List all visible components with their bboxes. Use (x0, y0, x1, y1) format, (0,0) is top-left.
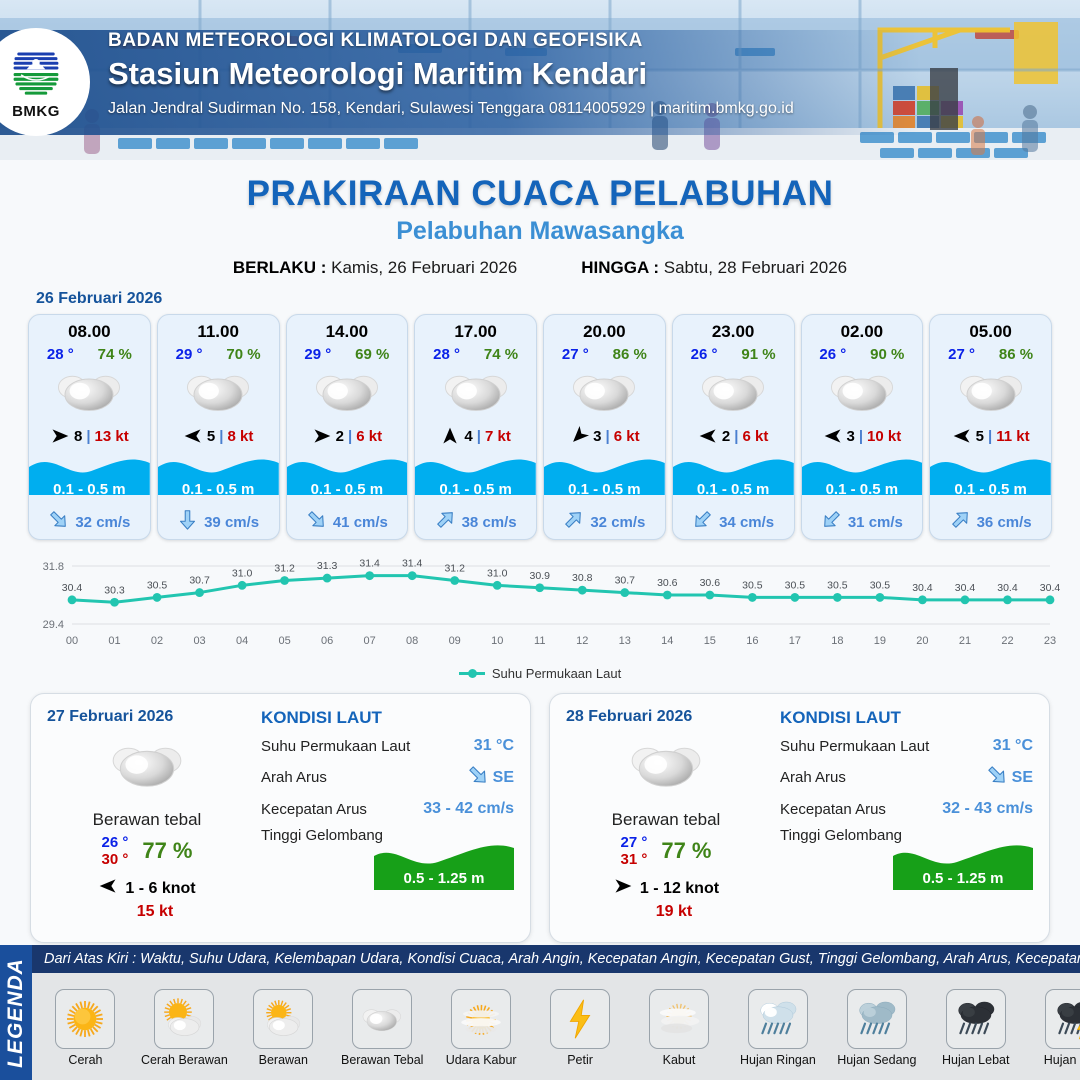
card-wave: 0.1 - 0.5 m (930, 453, 1051, 505)
daily-temp-max: 31 ° (620, 851, 647, 868)
svg-text:31.8: 31.8 (43, 561, 64, 573)
page-header: BMKG BADAN METEOROLOGI KLIMATOLOGI DAN G… (0, 0, 1080, 160)
sea-condition-value: SE (493, 769, 514, 787)
arrow-ne-current-icon (435, 509, 456, 535)
legenda-item-label: Udara Kabur (446, 1053, 517, 1067)
daily-wind-gust: 15 kt (63, 903, 247, 921)
sea-condition-value: 31 °C (474, 737, 514, 755)
svg-text:00: 00 (66, 635, 78, 647)
fog-icon (649, 989, 709, 1049)
sea-condition-value: 31 °C (993, 737, 1033, 755)
svg-text:21: 21 (959, 635, 971, 647)
berawan-tebal-icon (802, 363, 923, 419)
legenda-item: Berawan (237, 989, 329, 1067)
arrow-n-wind-icon (440, 426, 460, 446)
card-humidity: 74 % (98, 346, 132, 363)
legenda-item: Hujan Ringan (732, 989, 824, 1067)
daily-wave-badge: 0.5 - 1.25 m (374, 840, 514, 894)
chart-legend-marker (459, 672, 485, 675)
card-wave-height: 0.1 - 0.5 m (802, 481, 923, 498)
card-wind: 2 | 6 kt (673, 419, 794, 453)
arrow-se-current-icon (48, 509, 69, 535)
svg-text:31.2: 31.2 (444, 563, 465, 575)
sea-condition-label: Arah Arus (780, 769, 846, 786)
station-name: Stasiun Meteorologi Maritim Kendari (108, 56, 794, 92)
card-time: 14.00 (287, 315, 408, 342)
hourly-date-label: 26 Februari 2026 (36, 290, 1080, 308)
card-wave-height: 0.1 - 0.5 m (287, 481, 408, 498)
svg-text:30.6: 30.6 (700, 577, 721, 589)
legenda-side-text: LEGENDA (4, 958, 28, 1068)
card-humidity: 70 % (226, 346, 260, 363)
card-wind-gust: 10 kt (867, 428, 901, 445)
card-wind-separator: | (219, 428, 223, 445)
arrow-se-current-icon (306, 509, 327, 535)
hourly-card: 20.00 27 ° 86 % 3 | 6 kt 0.1 - 0.5 m (543, 314, 666, 540)
arrow-w-wind-icon (952, 426, 972, 446)
svg-text:30.4: 30.4 (955, 582, 976, 594)
svg-text:31.3: 31.3 (317, 560, 338, 572)
card-temperature: 28 ° (433, 346, 460, 363)
arrow-w-wind-icon (183, 426, 203, 446)
card-wave: 0.1 - 0.5 m (29, 453, 150, 505)
sun-icon (55, 989, 115, 1049)
card-wind-direction: 2 (722, 428, 730, 445)
card-wave-height: 0.1 - 0.5 m (930, 481, 1051, 498)
card-current: 39 cm/s (158, 505, 279, 539)
svg-text:31.0: 31.0 (232, 567, 253, 579)
card-current-speed: 34 cm/s (719, 514, 774, 531)
legenda-item: Cerah (39, 989, 131, 1067)
card-wave: 0.1 - 0.5 m (287, 453, 408, 505)
berawan-tebal-icon (673, 363, 794, 419)
svg-text:30.8: 30.8 (572, 572, 593, 584)
svg-text:30.6: 30.6 (657, 577, 678, 589)
sea-condition-row: Kecepatan Arus 32 - 43 cm/s (780, 800, 1033, 818)
arrow-ne-current-icon (563, 509, 584, 535)
sea-condition-value: 33 - 42 cm/s (423, 800, 514, 818)
svg-text:09: 09 (449, 635, 461, 647)
svg-text:18: 18 (831, 635, 843, 647)
svg-text:16: 16 (746, 635, 758, 647)
arrow-se-current-icon (467, 764, 489, 791)
daily-date: 27 Februari 2026 (47, 708, 247, 726)
card-current-speed: 32 cm/s (590, 514, 645, 531)
moderate-rain-icon (847, 989, 907, 1049)
sea-condition-label: Tinggi Gelombang (780, 827, 902, 844)
card-wave-height: 0.1 - 0.5 m (29, 481, 150, 498)
svg-text:22: 22 (1001, 635, 1013, 647)
legenda-side-label: LEGENDA (0, 945, 32, 1080)
page-title: PRAKIRAAN CUACA PELABUHAN (0, 174, 1080, 214)
svg-text:30.4: 30.4 (1040, 582, 1060, 594)
card-wind-gust: 6 kt (742, 428, 768, 445)
daily-forecast-panels: 27 Februari 2026 Berawan tebal 26 ° 30 °… (0, 681, 1080, 943)
berawan-tebal-icon (415, 363, 536, 419)
svg-text:01: 01 (108, 635, 120, 647)
card-wind: 5 | 8 kt (158, 419, 279, 453)
hourly-card: 05.00 27 ° 86 % 5 | 11 kt 0.1 - 0.5 m (929, 314, 1052, 540)
legenda-caption: Dari Atas Kiri : Waktu, Suhu Udara, Kele… (32, 945, 1080, 973)
card-wind-separator: | (348, 428, 352, 445)
card-wave: 0.1 - 0.5 m (673, 453, 794, 505)
sea-condition-title: KONDISI LAUT (261, 708, 514, 728)
legenda-item-label: Hujan Lebat (942, 1053, 1009, 1067)
heavy-rain-icon (946, 989, 1006, 1049)
valid-to-value: Sabtu, 28 Februari 2026 (664, 258, 847, 277)
svg-text:14: 14 (661, 635, 673, 647)
card-humidity: 91 % (741, 346, 775, 363)
svg-text:31.0: 31.0 (487, 567, 508, 579)
berawan-tebal-icon (47, 732, 247, 798)
legenda-item: Berawan Tebal (336, 989, 428, 1067)
sun-cloud-icon (154, 989, 214, 1049)
chart-legend-label: Suhu Permukaan Laut (492, 666, 621, 681)
svg-text:19: 19 (874, 635, 886, 647)
svg-text:23: 23 (1044, 635, 1056, 647)
card-time: 20.00 (544, 315, 665, 342)
card-wind-separator: | (988, 428, 992, 445)
svg-text:04: 04 (236, 635, 248, 647)
light-rain-icon (748, 989, 808, 1049)
sea-condition-label: Kecepatan Arus (780, 801, 886, 818)
card-humidity: 74 % (484, 346, 518, 363)
svg-text:31.4: 31.4 (402, 558, 423, 570)
card-temperature: 29 ° (176, 346, 203, 363)
lightning-icon (550, 989, 610, 1049)
legenda-item-label: Petir (567, 1053, 593, 1067)
sea-condition-row: Suhu Permukaan Laut 31 °C (780, 737, 1033, 755)
legenda-item: Kabut (633, 989, 725, 1067)
card-current-speed: 41 cm/s (333, 514, 388, 531)
svg-text:15: 15 (704, 635, 716, 647)
svg-text:30.4: 30.4 (912, 582, 933, 594)
card-wind-gust: 6 kt (614, 428, 640, 445)
card-wind: 8 | 13 kt (29, 419, 150, 453)
svg-text:12: 12 (576, 635, 588, 647)
card-wind-direction: 2 (336, 428, 344, 445)
svg-text:30.7: 30.7 (189, 575, 210, 587)
legenda-item: Hujan Petir (1029, 989, 1080, 1067)
svg-text:06: 06 (321, 635, 333, 647)
card-humidity: 86 % (613, 346, 647, 363)
card-humidity: 90 % (870, 346, 904, 363)
berawan-tebal-icon (930, 363, 1051, 419)
legenda-item-label: Hujan Ringan (740, 1053, 816, 1067)
valid-from-value: Kamis, 26 Februari 2026 (331, 258, 517, 277)
card-wave: 0.1 - 0.5 m (415, 453, 536, 505)
card-current: 36 cm/s (930, 505, 1051, 539)
svg-text:31.2: 31.2 (274, 563, 295, 575)
card-wind: 2 | 6 kt (287, 419, 408, 453)
card-wind-gust: 6 kt (356, 428, 382, 445)
card-time: 11.00 (158, 315, 279, 342)
svg-text:05: 05 (278, 635, 290, 647)
daily-wind-range: 1 - 6 knot (125, 880, 195, 898)
card-wind-separator: | (86, 428, 90, 445)
sea-condition-row: Suhu Permukaan Laut 31 °C (261, 737, 514, 755)
daily-wave-height: 0.5 - 1.25 m (893, 870, 1033, 887)
legenda-item: Petir (534, 989, 626, 1067)
heavy-cloud-icon (352, 989, 412, 1049)
validity-row: BERLAKU : Kamis, 26 Februari 2026 HINGGA… (0, 258, 1080, 278)
legenda-item: Udara Kabur (435, 989, 527, 1067)
svg-text:30.9: 30.9 (530, 570, 551, 582)
card-wind-direction: 5 (207, 428, 215, 445)
agency-name: BADAN METEOROLOGI KLIMATOLOGI DAN GEOFIS… (108, 30, 794, 52)
card-time: 17.00 (415, 315, 536, 342)
svg-text:08: 08 (406, 635, 418, 647)
arrow-w-wind-icon (823, 426, 843, 446)
legenda-items: Cerah Cerah Berawan Berawan Berawan Teba… (32, 973, 1080, 1080)
arrow-sw-wind-icon (569, 426, 589, 446)
daily-wind: 1 - 12 knot (566, 876, 766, 901)
card-temperature: 27 ° (562, 346, 589, 363)
card-wind-gust: 7 kt (485, 428, 511, 445)
arrow-w-wind-icon (98, 876, 118, 901)
valid-from: BERLAKU : Kamis, 26 Februari 2026 (233, 258, 517, 278)
daily-wave-height: 0.5 - 1.25 m (374, 870, 514, 887)
card-current: 32 cm/s (544, 505, 665, 539)
svg-text:30.7: 30.7 (615, 575, 636, 587)
daily-temp-min: 27 ° (620, 834, 647, 851)
legenda-item-label: Hujan Sedang (837, 1053, 916, 1067)
card-current: 34 cm/s (673, 505, 794, 539)
card-wind-direction: 4 (464, 428, 472, 445)
legenda-item-label: Hujan Petir (1044, 1053, 1080, 1067)
card-current-speed: 39 cm/s (204, 514, 259, 531)
card-wave: 0.1 - 0.5 m (802, 453, 923, 505)
svg-text:02: 02 (151, 635, 163, 647)
card-wind-direction: 5 (976, 428, 984, 445)
hourly-card: 02.00 26 ° 90 % 3 | 10 kt 0.1 - 0.5 m (801, 314, 924, 540)
valid-to-label: HINGGA : (581, 258, 659, 277)
card-time: 05.00 (930, 315, 1051, 342)
legenda-item: Hujan Sedang (831, 989, 923, 1067)
card-current-speed: 36 cm/s (977, 514, 1032, 531)
legenda-item-label: Kabut (663, 1053, 696, 1067)
title-block: PRAKIRAAN CUACA PELABUHAN Pelabuhan Mawa… (0, 174, 1080, 278)
legenda-item-label: Cerah (68, 1053, 102, 1067)
hourly-card: 08.00 28 ° 74 % 8 | 13 kt 0.1 - 0.5 m (28, 314, 151, 540)
card-wind: 4 | 7 kt (415, 419, 536, 453)
card-temperature: 28 ° (47, 346, 74, 363)
card-time: 23.00 (673, 315, 794, 342)
daily-forecast-panel: 27 Februari 2026 Berawan tebal 26 ° 30 °… (30, 693, 531, 943)
valid-to: HINGGA : Sabtu, 28 Februari 2026 (581, 258, 847, 278)
station-address: Jalan Jendral Sudirman No. 158, Kendari,… (108, 100, 794, 118)
arrow-ne-current-icon (950, 509, 971, 535)
svg-text:20: 20 (916, 635, 928, 647)
cloud-sun-icon (253, 989, 313, 1049)
legenda-item: Cerah Berawan (138, 989, 230, 1067)
svg-text:31.4: 31.4 (359, 558, 380, 570)
card-temperature: 27 ° (948, 346, 975, 363)
card-current-speed: 32 cm/s (75, 514, 130, 531)
card-wave: 0.1 - 0.5 m (544, 453, 665, 505)
card-current-speed: 31 cm/s (848, 514, 903, 531)
card-wind: 3 | 6 kt (544, 419, 665, 453)
daily-condition: Berawan tebal (566, 810, 766, 830)
svg-text:30.5: 30.5 (147, 579, 168, 591)
card-wave-height: 0.1 - 0.5 m (415, 481, 536, 498)
sea-condition-label: Suhu Permukaan Laut (261, 738, 410, 755)
svg-text:07: 07 (364, 635, 376, 647)
svg-text:11: 11 (534, 635, 545, 647)
arrow-e-wind-icon (50, 426, 70, 446)
card-wind-gust: 8 kt (227, 428, 253, 445)
svg-text:30.5: 30.5 (742, 579, 763, 591)
svg-text:30.5: 30.5 (785, 579, 806, 591)
arrow-e-wind-icon (312, 426, 332, 446)
daily-date: 28 Februari 2026 (566, 708, 766, 726)
arrow-se-current-icon (986, 764, 1008, 791)
sea-condition-title: KONDISI LAUT (780, 708, 1033, 728)
card-current: 32 cm/s (29, 505, 150, 539)
svg-text:30.4: 30.4 (997, 582, 1018, 594)
berawan-tebal-icon (287, 363, 408, 419)
daily-wave-badge: 0.5 - 1.25 m (893, 840, 1033, 894)
haze-icon (451, 989, 511, 1049)
svg-text:30.3: 30.3 (104, 584, 125, 596)
daily-temp-max: 30 ° (101, 851, 128, 868)
daily-humidity: 77 % (142, 838, 192, 864)
sea-condition-row: Arah Arus SE (780, 764, 1033, 791)
arrow-s-current-icon (177, 509, 198, 535)
card-wind-separator: | (734, 428, 738, 445)
sea-condition-row: Kecepatan Arus 33 - 42 cm/s (261, 800, 514, 818)
chart-legend: Suhu Permukaan Laut (0, 666, 1080, 681)
card-wave-height: 0.1 - 0.5 m (158, 481, 279, 498)
sea-surface-temp-chart: 31.829.430.40030.30130.50230.70331.00431… (20, 552, 1060, 662)
daily-wind: 1 - 6 knot (47, 876, 247, 901)
card-time: 08.00 (29, 315, 150, 342)
legenda-item-label: Berawan Tebal (341, 1053, 423, 1067)
card-wind-separator: | (859, 428, 863, 445)
sea-condition-label: Tinggi Gelombang (261, 827, 383, 844)
berawan-tebal-icon (158, 363, 279, 419)
chart-svg: 31.829.430.40030.30130.50230.70331.00431… (20, 552, 1060, 662)
sea-condition-label: Arah Arus (261, 769, 327, 786)
daily-humidity: 77 % (661, 838, 711, 864)
daily-wind-range: 1 - 12 knot (640, 880, 719, 898)
sea-condition-label: Kecepatan Arus (261, 801, 367, 818)
daily-condition: Berawan tebal (47, 810, 247, 830)
legenda-bar: LEGENDA Dari Atas Kiri : Waktu, Suhu Uda… (0, 945, 1080, 1080)
card-temperature: 26 ° (691, 346, 718, 363)
hourly-card: 17.00 28 ° 74 % 4 | 7 kt 0.1 - 0.5 m (414, 314, 537, 540)
card-wind-separator: | (477, 428, 481, 445)
sea-condition-row: Arah Arus SE (261, 764, 514, 791)
card-wind-direction: 3 (593, 428, 601, 445)
svg-text:30.5: 30.5 (870, 579, 891, 591)
hourly-forecast-cards: 08.00 28 ° 74 % 8 | 13 kt 0.1 - 0.5 m (0, 314, 1080, 540)
card-current-speed: 38 cm/s (462, 514, 517, 531)
bmkg-logo-mark (8, 44, 64, 102)
berawan-tebal-icon (544, 363, 665, 419)
svg-text:29.4: 29.4 (43, 619, 64, 631)
card-wind: 3 | 10 kt (802, 419, 923, 453)
card-current: 31 cm/s (802, 505, 923, 539)
legenda-item: Hujan Lebat (930, 989, 1022, 1067)
thunderstorm-rain-icon (1045, 989, 1080, 1049)
arrow-sw-current-icon (692, 509, 713, 535)
arrow-e-wind-icon (613, 876, 633, 901)
card-wind: 5 | 11 kt (930, 419, 1051, 453)
svg-text:30.5: 30.5 (827, 579, 848, 591)
daily-forecast-panel: 28 Februari 2026 Berawan tebal 27 ° 31 °… (549, 693, 1050, 943)
svg-text:17: 17 (789, 635, 801, 647)
card-wind-separator: | (606, 428, 610, 445)
card-wind-gust: 11 kt (996, 428, 1029, 445)
berawan-tebal-icon (566, 732, 766, 798)
card-humidity: 86 % (999, 346, 1033, 363)
sea-condition-value: 32 - 43 cm/s (942, 800, 1033, 818)
hourly-card: 11.00 29 ° 70 % 5 | 8 kt 0.1 - 0.5 m (157, 314, 280, 540)
valid-from-label: BERLAKU : (233, 258, 327, 277)
svg-text:10: 10 (491, 635, 503, 647)
card-current: 38 cm/s (415, 505, 536, 539)
legenda-item-label: Cerah Berawan (141, 1053, 228, 1067)
hourly-card: 23.00 26 ° 91 % 2 | 6 kt 0.1 - 0.5 m (672, 314, 795, 540)
card-wave-height: 0.1 - 0.5 m (673, 481, 794, 498)
arrow-sw-current-icon (821, 509, 842, 535)
card-wind-gust: 13 kt (95, 428, 129, 445)
card-humidity: 69 % (355, 346, 389, 363)
card-temperature: 26 ° (819, 346, 846, 363)
svg-text:30.4: 30.4 (62, 582, 83, 594)
card-wave: 0.1 - 0.5 m (158, 453, 279, 505)
card-temperature: 29 ° (304, 346, 331, 363)
card-time: 02.00 (802, 315, 923, 342)
sea-condition-label: Suhu Permukaan Laut (780, 738, 929, 755)
daily-wind-gust: 19 kt (582, 903, 766, 921)
sea-condition-value: SE (1012, 769, 1033, 787)
card-current: 41 cm/s (287, 505, 408, 539)
card-wave-height: 0.1 - 0.5 m (544, 481, 665, 498)
arrow-w-wind-icon (698, 426, 718, 446)
card-wind-direction: 8 (74, 428, 82, 445)
hourly-card: 14.00 29 ° 69 % 2 | 6 kt 0.1 - 0.5 m (286, 314, 409, 540)
legenda-item-label: Berawan (259, 1053, 308, 1067)
port-name: Pelabuhan Mawasangka (0, 217, 1080, 246)
bmkg-logo-text: BMKG (12, 103, 60, 120)
svg-text:03: 03 (193, 635, 205, 647)
card-wind-direction: 3 (847, 428, 855, 445)
berawan-tebal-icon (29, 363, 150, 419)
daily-temp-min: 26 ° (101, 834, 128, 851)
svg-text:13: 13 (619, 635, 631, 647)
